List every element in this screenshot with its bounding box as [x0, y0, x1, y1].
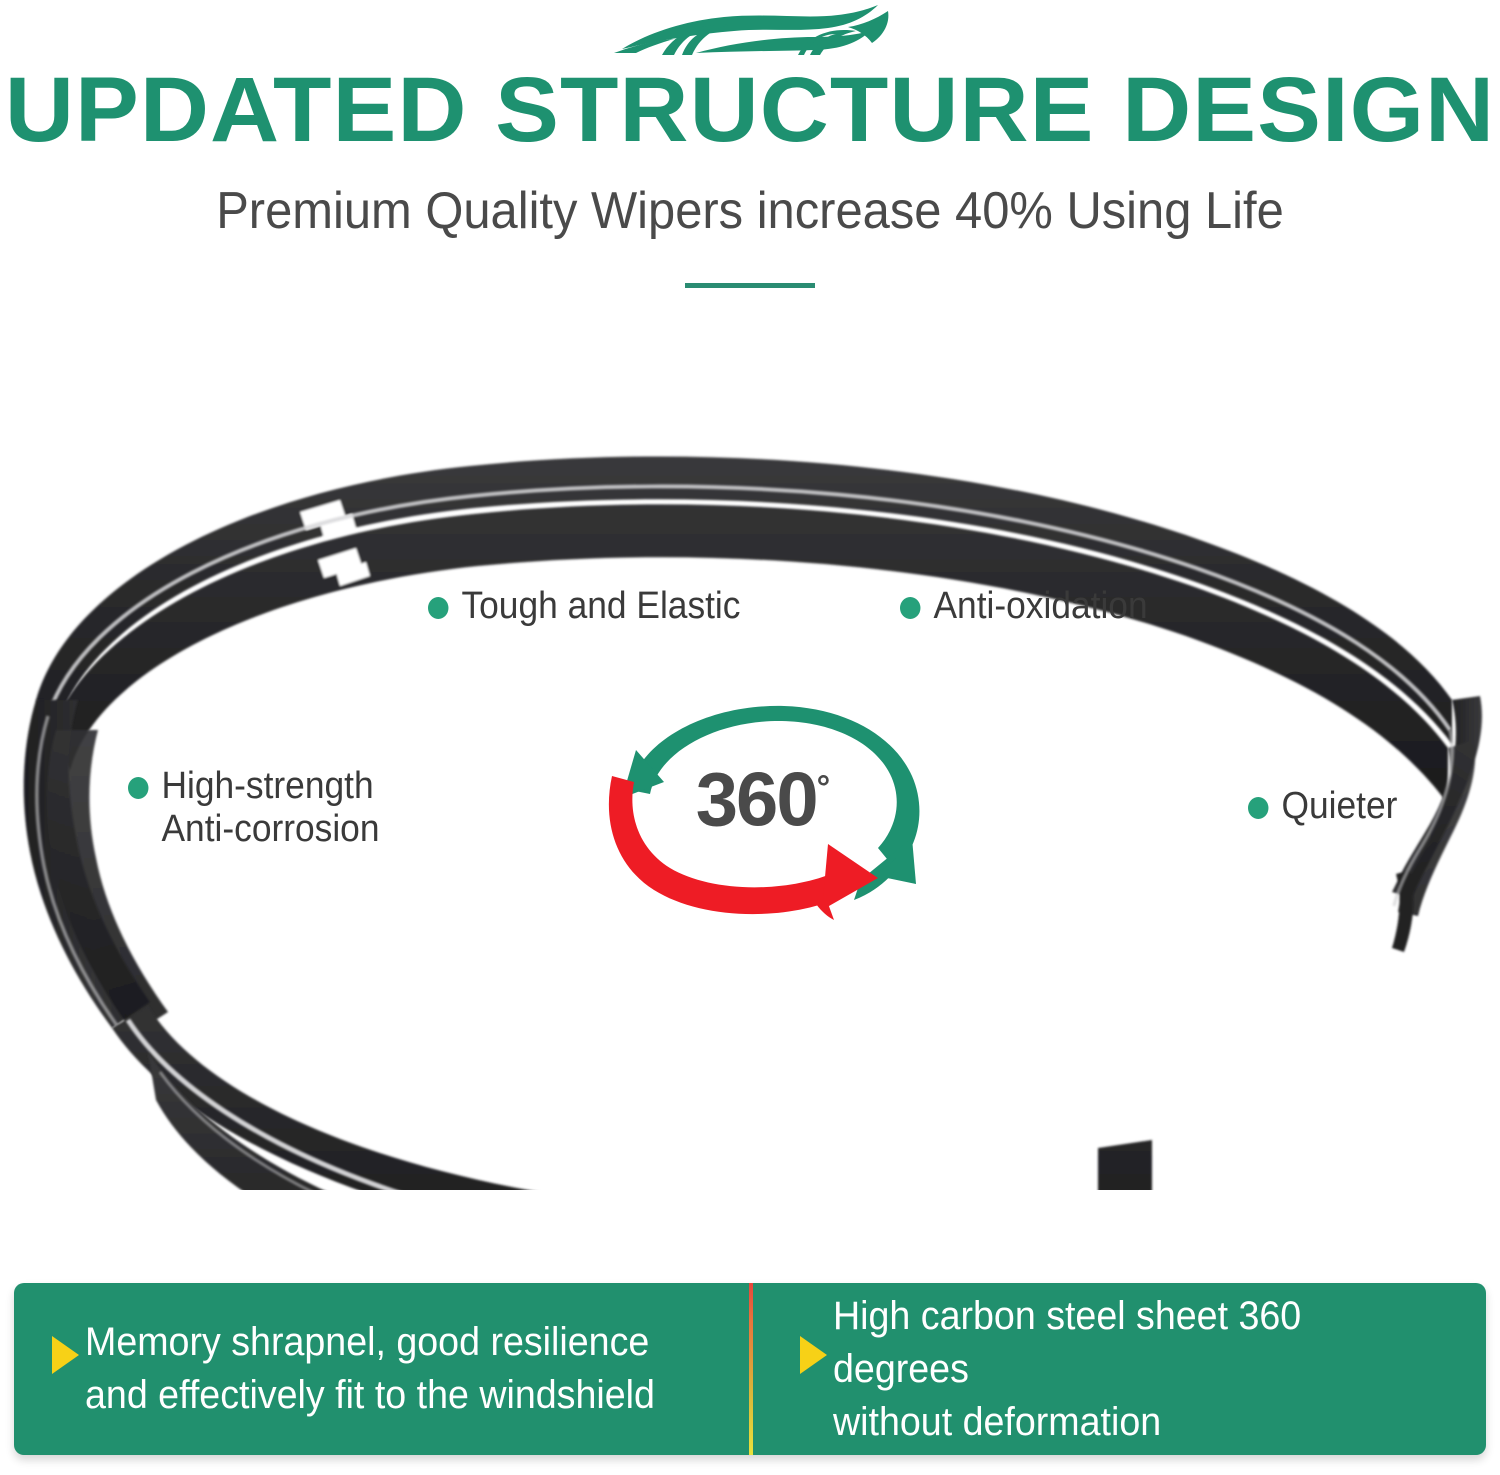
title-divider-rule	[685, 283, 815, 288]
banner-divider	[749, 1283, 753, 1455]
product-feature-graphic: UPDATED STRUCTURE DESIGN Premium Quality…	[0, 0, 1500, 1475]
triangle-marker-icon	[52, 1336, 79, 1374]
badge-360-degrees: 360°	[578, 698, 948, 923]
feature-label-high-strength: High-strength Anti-corrosion	[128, 765, 379, 851]
feature-label-text: High-strength Anti-corrosion	[161, 765, 379, 851]
banner-item-memory: Memory shrapnel, good resilience and eff…	[14, 1283, 750, 1455]
banner-item-high-carbon: High carbon steel sheet 360 degrees with…	[750, 1283, 1486, 1455]
feature-label-anti-oxidation: Anti-oxidation	[900, 585, 1148, 628]
feature-label-text: Anti-oxidation	[933, 585, 1147, 628]
bullet-dot-icon	[128, 777, 148, 799]
page-title: UPDATED STRUCTURE DESIGN	[0, 62, 1500, 158]
brand-logo	[0, 2, 1500, 64]
banner-item-text: High carbon steel sheet 360 degrees with…	[833, 1290, 1430, 1449]
page-subtitle: Premium Quality Wipers increase 40% Usin…	[45, 178, 1455, 244]
bullet-dot-icon	[428, 597, 448, 619]
car-silhouette-logo-icon	[600, 3, 900, 63]
feature-label-text: Tough and Elastic	[461, 585, 740, 628]
bullet-dot-icon	[900, 597, 920, 619]
triangle-marker-icon	[800, 1336, 827, 1374]
feature-label-tough: Tough and Elastic	[428, 585, 740, 628]
banner-item-text: Memory shrapnel, good resilience and eff…	[85, 1316, 655, 1422]
feature-label-quieter: Quieter	[1248, 785, 1397, 828]
badge-360-value: 360°	[578, 750, 948, 838]
bullet-dot-icon	[1248, 797, 1268, 819]
feature-label-text: Quieter	[1281, 785, 1397, 828]
